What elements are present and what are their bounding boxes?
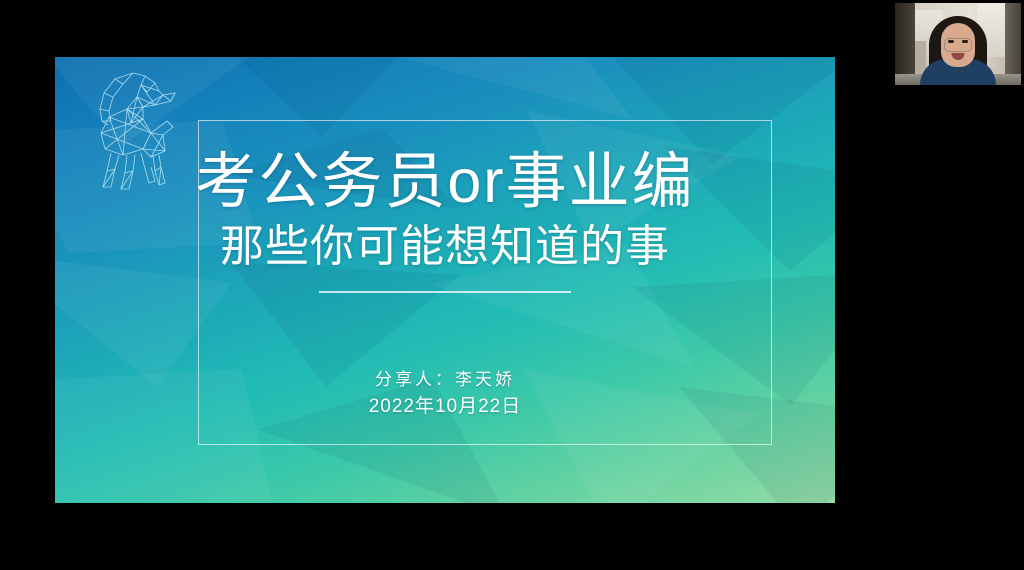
slide-title: 考公务员or事业编 (55, 145, 835, 217)
slide-subtitle: 那些你可能想知道的事 (55, 219, 835, 275)
presenter-name: 分享人：李天娇 (55, 367, 835, 393)
webcam-person-eye-left (948, 40, 954, 43)
presentation-slide[interactable]: 考公务员or事业编 那些你可能想知道的事 分享人：李天娇 2022年10月22日 (55, 57, 835, 503)
title-divider-line (319, 291, 571, 293)
webcam-person-mouth (952, 53, 965, 60)
webcam-person-face (941, 23, 975, 67)
screen-share-stage: 考公务员or事业编 那些你可能想知道的事 分享人：李天娇 2022年10月22日 (0, 0, 1024, 570)
presenter-info-block: 分享人：李天娇 2022年10月22日 (55, 367, 835, 421)
webcam-curtain-left (895, 3, 915, 85)
presenter-webcam-video[interactable] (895, 3, 1021, 85)
presentation-date: 2022年10月22日 (55, 393, 835, 421)
webcam-person-eye-right (962, 40, 968, 43)
webcam-video-frame (895, 3, 1021, 85)
webcam-curtain-right (1005, 3, 1021, 85)
slide-text-block: 考公务员or事业编 那些你可能想知道的事 (55, 145, 835, 293)
